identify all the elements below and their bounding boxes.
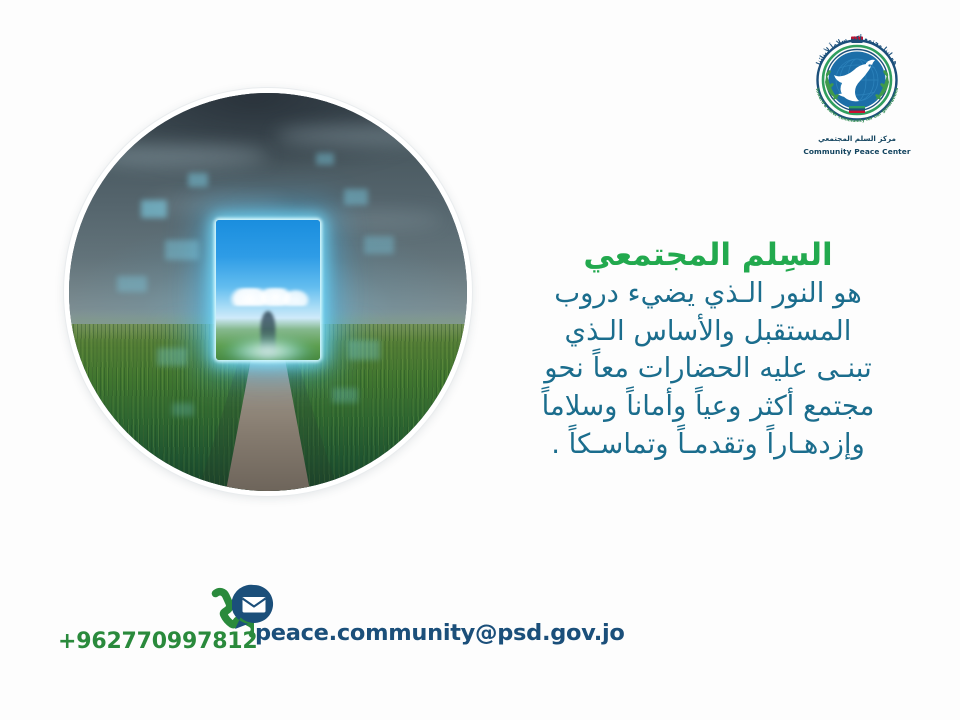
portal-clouds — [222, 288, 314, 306]
logo: هو اننا مجتمع أكثر سلاماً لأبنائنا Towar… — [792, 28, 922, 168]
body-line-2: المستقبل والأساس الـذي — [482, 313, 934, 351]
community-peace-center-emblem-icon: هو اننا مجتمع أكثر سلاماً لأبنائنا Towar… — [805, 28, 909, 132]
glowing-doorway-image — [64, 88, 472, 496]
headline: السِلم المجتمعي — [482, 236, 934, 275]
phone-number[interactable]: +962770997812 — [58, 629, 258, 654]
body-line-1: هو النور الـذي يضيء دروب — [482, 275, 934, 313]
body-line-5: وإزدهـاراً وتقدمـاً وتماسـكاً . — [482, 426, 934, 464]
body-line-4: مجتمع أكثر وعياً وأماناً وسلاماً — [482, 388, 934, 426]
portal-base-glow — [197, 339, 338, 370]
body-line-3: تبنـى عليه الحضارات معاً نحو — [482, 350, 934, 388]
contact-block: +962770997812 peace.community@psd.gov.jo — [0, 585, 620, 665]
glowing-portal — [216, 220, 320, 360]
image-clip — [69, 93, 467, 491]
email-address[interactable]: peace.community@psd.gov.jo — [255, 620, 625, 646]
logo-title-english: Community Peace Center — [792, 147, 922, 156]
message-block: السِلم المجتمعي هو النور الـذي يضيء دروب… — [482, 236, 934, 463]
logo-title-arabic: مركز السلم المجتمعي — [792, 134, 922, 143]
poster-canvas: هو اننا مجتمع أكثر سلاماً لأبنائنا Towar… — [0, 0, 960, 720]
